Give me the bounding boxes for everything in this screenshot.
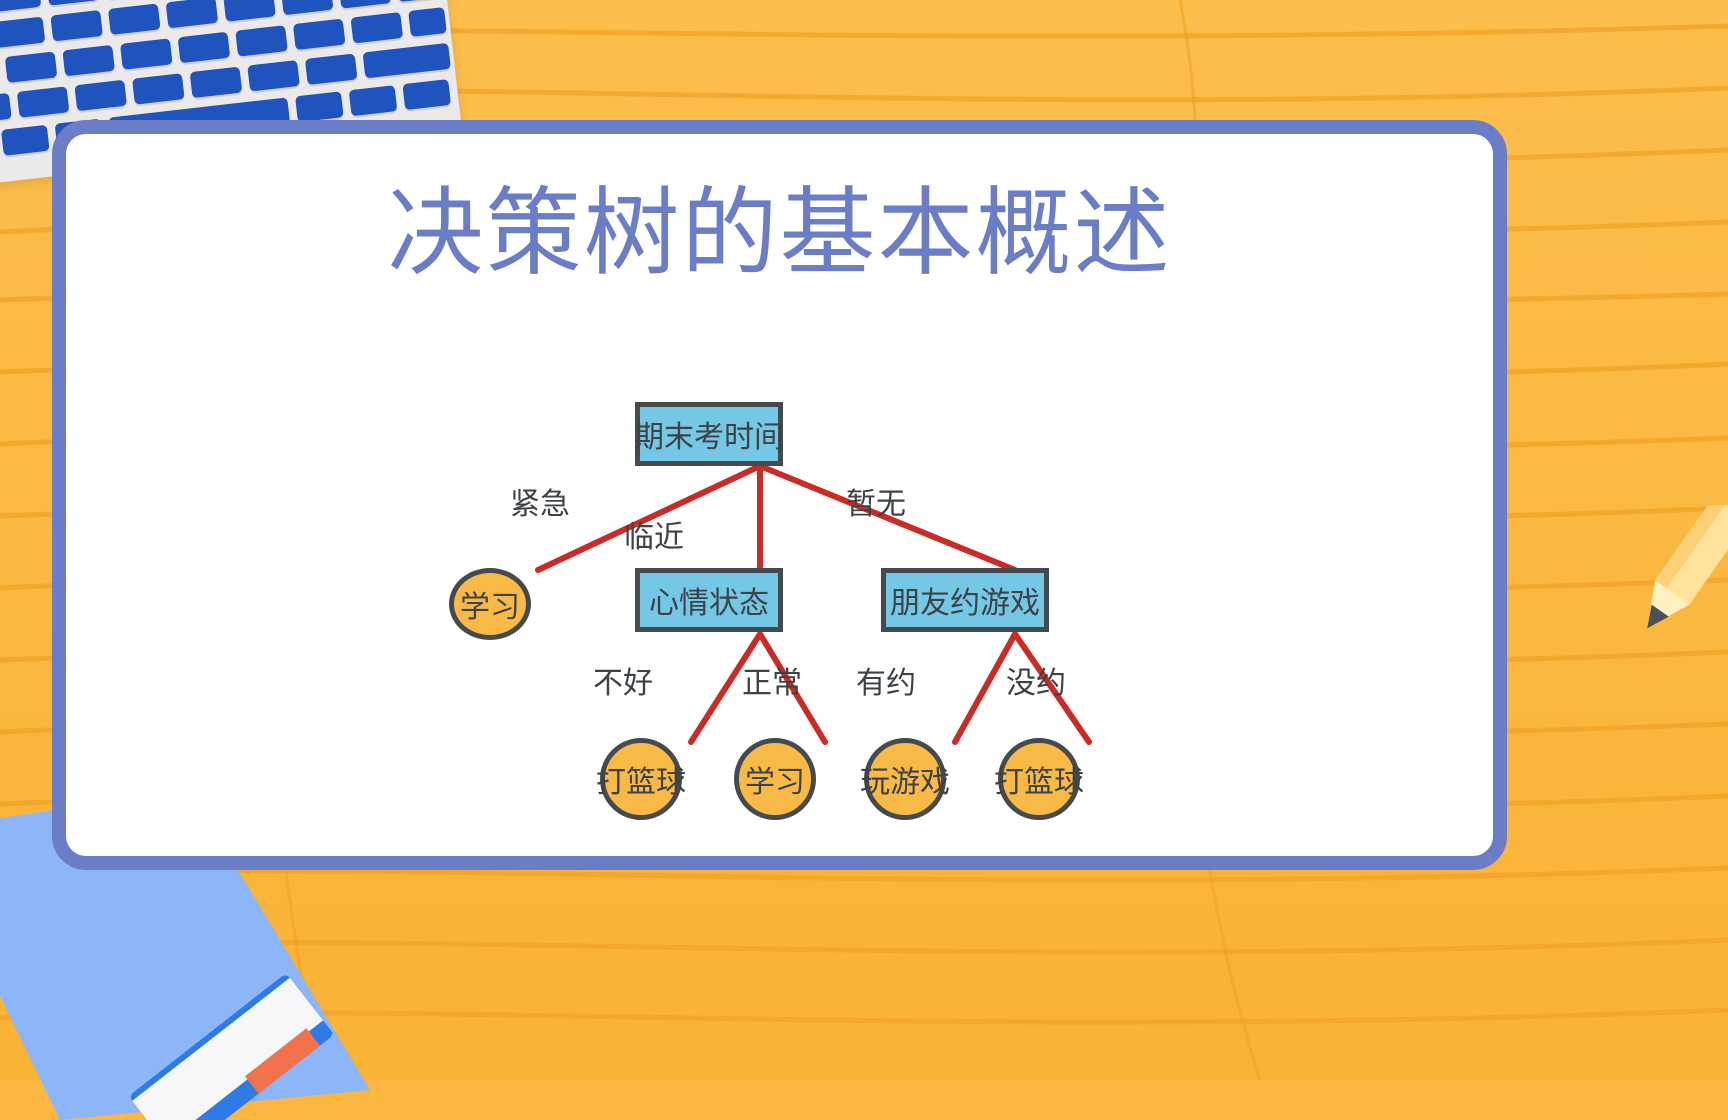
tree-node-friend[interactable]: 朋友约游戏: [881, 568, 1049, 632]
tree-node-bb1[interactable]: 打篮球: [600, 738, 682, 820]
edge-label-bad: 不好: [593, 658, 653, 702]
tree-node-root-label: 期末考时间: [634, 412, 784, 456]
tree-node-bb2-label: 打篮球: [994, 757, 1084, 801]
slide-card: 决策树的基本概述 期末考时间 学习 心情状态 朋友约游戏: [52, 120, 1507, 870]
tree-node-study1[interactable]: 学习: [449, 568, 531, 640]
tree-node-study1-label: 学习: [460, 582, 520, 626]
pencil-icon: [1616, 505, 1728, 655]
edge-label-none: 暂无: [846, 479, 906, 523]
edge-label-normal: 正常: [742, 658, 802, 702]
edge-label-no-appt: 没约: [1006, 658, 1066, 702]
tree-node-mood[interactable]: 心情状态: [635, 568, 783, 632]
tree-node-mood-label: 心情状态: [649, 578, 769, 622]
tree-node-friend-label: 朋友约游戏: [890, 578, 1040, 622]
edge-label-has-appt: 有约: [856, 658, 916, 702]
tree-node-root[interactable]: 期末考时间: [635, 402, 783, 466]
tree-node-game[interactable]: 玩游戏: [864, 738, 946, 820]
tree-node-bb2[interactable]: 打篮球: [998, 738, 1080, 820]
tree-node-bb1-label: 打篮球: [596, 757, 686, 801]
edge-label-urgent: 紧急: [510, 479, 570, 523]
decision-tree-diagram: 期末考时间 学习 心情状态 朋友约游戏 打篮球 学习 玩游戏 打篮球 紧急 临近…: [66, 134, 1521, 884]
tree-node-study2[interactable]: 学习: [734, 738, 816, 820]
edge-label-near: 临近: [624, 512, 684, 556]
tree-node-study2-label: 学习: [745, 757, 805, 801]
tree-node-game-label: 玩游戏: [860, 757, 950, 801]
